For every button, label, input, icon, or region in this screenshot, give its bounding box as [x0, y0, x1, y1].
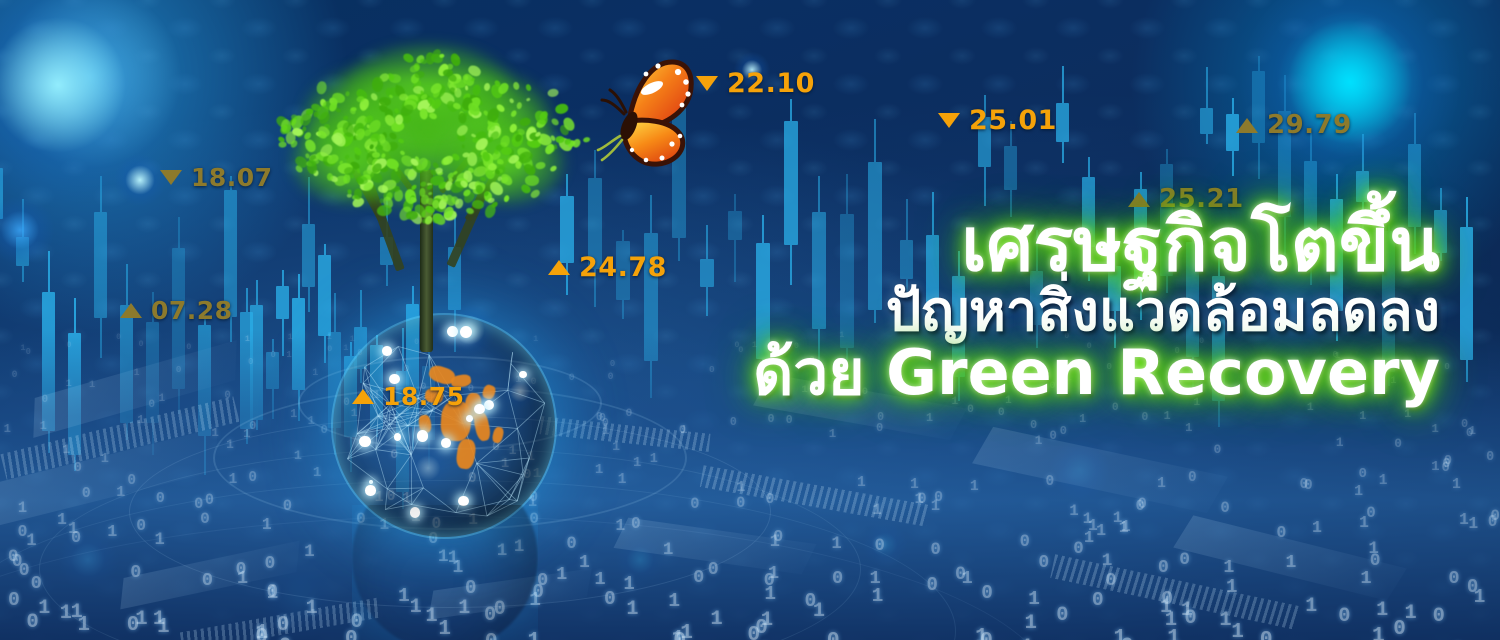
leaf-cluster [426, 184, 433, 191]
leaf-cluster [447, 72, 463, 85]
leaf-cluster [431, 199, 439, 209]
binary-digit: 0 [127, 614, 140, 637]
leaf-cluster [410, 183, 417, 190]
leaf-cluster [315, 151, 329, 163]
leaf-cluster [466, 64, 483, 79]
binary-digit: 1 [579, 553, 590, 573]
binary-digit: 0 [404, 363, 410, 374]
leaf-cluster [394, 109, 400, 115]
leaf-cluster [377, 144, 384, 149]
binary-digit: 0 [468, 471, 477, 487]
binary-digit: 0 [26, 347, 31, 357]
binary-digit: 1 [89, 379, 95, 391]
leaf-cluster [280, 125, 288, 134]
candlestick [16, 199, 29, 281]
binary-digit: 0 [1461, 417, 1468, 431]
triangle-down-icon [696, 76, 718, 91]
leaf-cluster [486, 121, 502, 136]
binary-digit: 0 [42, 394, 49, 406]
binary-digit: 0 [148, 399, 155, 411]
binary-digit: 0 [485, 630, 498, 640]
leaf-cluster [506, 153, 520, 166]
leaf-cluster [314, 103, 331, 121]
binary-digit: 1 [438, 618, 451, 640]
leaf-cluster [418, 92, 435, 110]
network-node [474, 404, 485, 415]
leaf-cluster [419, 108, 429, 120]
binary-digit: 1 [910, 477, 919, 493]
leaf-cluster [385, 87, 394, 97]
binary-digit: 0 [690, 495, 699, 513]
binary-digit: 1 [528, 493, 537, 511]
binary-digit: 0 [679, 423, 686, 437]
binary-digit: 1 [1113, 626, 1126, 640]
binary-digit: 1 [4, 422, 11, 436]
leaf-cluster [488, 197, 496, 204]
binary-digit: 1 [497, 541, 508, 561]
binary-digit: 0 [1038, 553, 1049, 573]
leaf-cluster [315, 131, 321, 136]
canopy-mass [290, 115, 410, 205]
butterfly-icon [596, 52, 716, 180]
binary-digit: 1 [267, 582, 279, 604]
leaf-cluster [370, 162, 382, 175]
leaf-cluster [372, 77, 383, 92]
binary-digit: 1 [1035, 433, 1043, 448]
leaf-cluster [416, 92, 427, 105]
leaf-cluster [384, 156, 400, 171]
leaf-cluster [333, 175, 349, 188]
binary-digit: 0 [345, 627, 358, 640]
candlestick [94, 176, 107, 358]
leaf-cluster [449, 52, 462, 67]
leaf-cluster [493, 128, 501, 136]
leaf-cluster [524, 161, 538, 175]
green-tree [268, 30, 598, 350]
leaf-cluster [395, 115, 403, 126]
leaf-cluster [378, 101, 386, 109]
candle-wick [984, 95, 986, 206]
leaf-cluster [467, 108, 476, 117]
leaf-cluster [515, 146, 532, 161]
network-node [519, 371, 527, 379]
candlestick [616, 230, 630, 319]
leaf-cluster [461, 97, 473, 111]
candle-body [42, 292, 55, 430]
binary-digit: 0 [356, 510, 366, 528]
leaf-cluster [279, 123, 294, 137]
binary-digit: 0 [428, 530, 438, 549]
candle-wick [100, 176, 102, 358]
binary-digit: 0 [1138, 495, 1147, 513]
binary-digit: 1 [398, 585, 410, 607]
leaf-cluster [407, 193, 415, 200]
leaf-cluster [406, 168, 419, 183]
binary-digit: 1 [66, 379, 72, 390]
leaf-cluster [322, 100, 336, 112]
leaf-cluster [483, 110, 490, 117]
leaf-cluster [515, 161, 522, 170]
binary-digit: 0 [1030, 418, 1037, 432]
candlestick [318, 244, 331, 363]
tech-stripe [1050, 554, 1300, 629]
leaf-cluster [520, 153, 527, 162]
leaf-cluster [371, 157, 378, 164]
candlestick [672, 65, 686, 261]
leaf-cluster [513, 133, 522, 143]
leaf-cluster [393, 84, 407, 99]
binary-digit: 1 [458, 597, 470, 620]
tech-slab [120, 541, 299, 610]
leaf-cluster [352, 146, 362, 157]
candle-body [146, 322, 159, 423]
leaf-cluster [343, 154, 350, 161]
leaf-cluster [342, 174, 350, 184]
leaf-cluster [503, 135, 508, 139]
binary-digit: 1 [1157, 476, 1166, 492]
binary-digit: 0 [82, 485, 91, 502]
network-node [447, 326, 458, 337]
binary-digit: 1 [626, 598, 638, 621]
leaf-cluster [313, 170, 319, 177]
binary-digit: 1 [153, 608, 165, 631]
candle-body [422, 366, 435, 440]
leaf-cluster [495, 103, 506, 114]
continent-landmass [427, 363, 457, 386]
leaf-cluster [362, 115, 374, 126]
candle-wick [402, 328, 404, 509]
leaf-cluster [500, 175, 510, 184]
candle-wick [594, 150, 596, 307]
binary-digit: 0 [431, 514, 441, 533]
leaf-cluster [475, 184, 484, 194]
network-node [458, 496, 468, 506]
leaf-cluster [471, 84, 481, 96]
binary-digit: 0 [569, 372, 575, 383]
triangle-up-icon [352, 389, 374, 404]
binary-digit: 0 [494, 598, 506, 621]
binary-digit: 0 [1188, 470, 1197, 486]
binary-digit: 1 [970, 479, 979, 495]
binary-digit: 0 [981, 582, 993, 604]
leaf-cluster [525, 97, 530, 102]
leaf-cluster [444, 180, 454, 191]
light-orb [734, 52, 770, 88]
leaf-cluster [453, 78, 467, 89]
leaf-cluster [453, 170, 459, 175]
candlestick [406, 286, 419, 450]
binary-digit: 1 [137, 413, 144, 427]
ticker-value: 24.78 [579, 252, 667, 283]
binary-digit: 0 [875, 537, 885, 556]
candle-body [16, 237, 29, 266]
leaf-cluster [303, 138, 317, 154]
leaf-cluster [472, 199, 485, 209]
binary-digit: 1 [1088, 516, 1098, 535]
ticker-value: 22.10 [727, 68, 815, 99]
leaf-cluster [330, 130, 347, 148]
binary-digit: 0 [1338, 605, 1350, 628]
leaf-cluster [499, 172, 515, 188]
leaf-cluster [557, 136, 575, 154]
light-orb [58, 530, 118, 590]
binary-digit: 0 [66, 340, 71, 350]
candlestick [370, 335, 383, 437]
leaf-cluster [315, 80, 327, 95]
leaf-cluster [346, 91, 351, 97]
leaf-cluster [454, 177, 468, 188]
leaf-cluster [381, 185, 389, 194]
binary-digit: 1 [1431, 459, 1439, 475]
globe-network-mesh [333, 315, 555, 537]
leaf-cluster [465, 93, 480, 106]
binary-digit: 1 [602, 424, 609, 438]
leaf-cluster [316, 124, 331, 139]
binary-digit: 1 [1452, 477, 1461, 493]
leaf-cluster [355, 87, 369, 101]
binary-digit: 1 [594, 568, 605, 590]
leaf-cluster [334, 138, 339, 143]
binary-digit: 0 [608, 371, 614, 382]
candle-wick [622, 230, 624, 319]
leaf-cluster [383, 113, 397, 128]
leaf-cluster [356, 174, 369, 185]
leaf-cluster [438, 90, 456, 107]
leaf-cluster [442, 206, 455, 220]
binary-digit: 1 [107, 523, 117, 542]
leaf-cluster [405, 98, 419, 109]
binary-digit: 0 [484, 604, 496, 627]
leaf-cluster [494, 169, 500, 176]
leaf-cluster [549, 164, 558, 172]
leaf-cluster [429, 173, 445, 186]
binary-digit: 1 [448, 548, 459, 568]
candle-wick [350, 342, 352, 472]
leaf-cluster [547, 88, 559, 97]
leaf-cluster [351, 107, 357, 111]
binary-digit: 1 [1468, 514, 1478, 533]
binary-digit: 0 [610, 358, 616, 369]
binary-digit: 0 [31, 572, 42, 594]
leaf-cluster [351, 128, 359, 137]
ticker-18-07: 18.07 [160, 163, 273, 192]
leaf-cluster [491, 200, 500, 209]
binary-digit: 1 [650, 452, 658, 467]
binary-digit: 1 [155, 531, 165, 550]
leaf-cluster [471, 137, 480, 145]
binary-digit: 1 [672, 627, 685, 640]
leaf-cluster [427, 191, 432, 195]
leaf-cluster [497, 161, 501, 165]
binary-digit: 0 [156, 489, 165, 507]
leaf-cluster [378, 103, 389, 113]
binary-digit: 1 [1312, 518, 1322, 537]
leaf-cluster [432, 162, 441, 171]
leaf-cluster [351, 196, 366, 210]
leaf-cluster [319, 99, 327, 108]
leaf-cluster [323, 155, 333, 167]
light-orb [1240, 0, 1460, 192]
binary-digit: 1 [438, 547, 449, 567]
leaf-cluster [455, 123, 470, 138]
leaf-cluster [425, 205, 432, 211]
binary-digit: 1 [1226, 576, 1237, 598]
binary-digit: 1 [1185, 421, 1192, 435]
binary-digit: 1 [159, 393, 166, 405]
leaf-cluster [355, 96, 365, 104]
leaf-cluster [510, 131, 525, 148]
binary-digit: 0 [1276, 524, 1286, 543]
candlestick [292, 274, 305, 421]
leaf-cluster [387, 72, 396, 82]
leaf-cluster [464, 85, 468, 90]
candle-body [396, 371, 409, 492]
canopy-mass [343, 43, 513, 133]
binary-digit: 1 [40, 419, 47, 433]
binary-digit: 0 [1105, 569, 1116, 591]
platform-ring [213, 386, 687, 530]
binary-digit: 0 [631, 514, 641, 533]
leaf-cluster [521, 162, 537, 178]
leaf-cluster [293, 154, 309, 169]
binary-digit: 1 [116, 485, 125, 501]
binary-digit: 1 [633, 456, 641, 471]
light-orb [406, 446, 450, 490]
binary-digit: 1 [62, 442, 70, 457]
leaf-cluster [462, 190, 477, 205]
leaf-cluster [354, 128, 367, 142]
leaf-cluster [412, 202, 428, 219]
candle-body [406, 304, 419, 427]
canopy-mass [405, 68, 555, 176]
candle-body [616, 241, 630, 299]
binary-digit: 0 [26, 611, 38, 634]
leaf-cluster [354, 114, 370, 130]
leaf-cluster [519, 116, 531, 126]
leaf-cluster [454, 198, 464, 210]
leaf-cluster [395, 124, 401, 130]
binary-digit: 1 [1376, 599, 1388, 622]
binary-digit: 0 [136, 516, 146, 535]
leaf-cluster [349, 108, 356, 116]
leaf-cluster [446, 171, 455, 180]
leaf-cluster [491, 114, 499, 123]
leaf-cluster [425, 205, 437, 215]
candle-body [1056, 103, 1069, 142]
candlestick [172, 217, 185, 414]
leaf-cluster [463, 169, 474, 182]
leaf-cluster [377, 133, 386, 144]
binary-digit: 1 [1231, 620, 1244, 640]
binary-digit: 1 [831, 535, 841, 554]
binary-digit: 1 [304, 542, 315, 562]
leaf-cluster [516, 150, 534, 166]
leaf-cluster [475, 181, 482, 189]
leaf-cluster [478, 99, 484, 106]
binary-digit: 1 [452, 558, 463, 578]
platform-ring [129, 416, 771, 608]
binary-digit: 0 [351, 611, 363, 634]
binary-digit: 1 [515, 374, 521, 385]
binary-digit: 1 [1359, 410, 1366, 423]
binary-digit: 0 [773, 528, 783, 547]
canopy-mass [301, 65, 451, 175]
network-node [410, 507, 421, 518]
leaf-cluster [553, 144, 558, 149]
leaf-cluster [357, 127, 365, 138]
leaf-cluster [470, 105, 476, 111]
leaf-cluster [451, 152, 460, 161]
leaf-cluster [381, 187, 396, 203]
leaf-cluster [483, 83, 490, 92]
binary-digit: 1 [379, 515, 389, 534]
network-node [369, 480, 373, 484]
binary-digit: 0 [248, 356, 254, 367]
candlestick [1200, 67, 1213, 145]
binary-digit: 1 [1360, 567, 1371, 589]
leaf-cluster [484, 153, 492, 163]
binary-digit: 1 [286, 350, 291, 360]
leaf-cluster [384, 108, 394, 120]
candle-body [448, 247, 461, 310]
headline-block: เศรษฐกิจโตขึ้น ปัญหาสิ่งแวดล้อมลดลง ด้วย… [753, 208, 1440, 404]
leaf-cluster [416, 98, 433, 114]
leaf-cluster [397, 138, 404, 144]
binary-digit: 1 [1165, 609, 1177, 632]
leaf-cluster [404, 94, 419, 107]
tech-slab [428, 568, 592, 619]
binary-digit: 0 [279, 634, 292, 640]
candlestick [1460, 197, 1473, 382]
ticker-07-28: 07.28 [120, 296, 233, 325]
binary-digit: 0 [420, 381, 426, 393]
light-orb [0, 0, 178, 205]
leaf-cluster [431, 212, 443, 224]
binary-digit: 0 [1046, 474, 1055, 490]
leaf-cluster [547, 144, 555, 153]
binary-digit: 0 [1442, 457, 1450, 472]
binary-digit: 0 [327, 344, 332, 354]
triangle-up-icon [548, 260, 570, 275]
network-node [417, 430, 428, 441]
binary-digit: 1 [737, 480, 746, 496]
leaf-cluster [487, 179, 505, 198]
leaf-cluster [421, 216, 429, 224]
leaf-cluster [524, 126, 537, 142]
binary-digit: 1 [663, 540, 673, 560]
leaf-cluster [396, 114, 401, 118]
binary-digit: 1 [1028, 588, 1040, 610]
leaf-cluster [427, 183, 432, 187]
binary-digit: 1 [710, 608, 722, 631]
binary-digit: 0 [736, 494, 745, 512]
leaf-cluster [460, 102, 469, 111]
leaf-cluster [437, 180, 448, 191]
leaf-cluster [430, 198, 446, 214]
binary-digit: 1 [313, 465, 321, 481]
leaf-cluster [480, 150, 491, 162]
binary-digit: 1 [1160, 595, 1172, 618]
leaf-cluster [431, 48, 442, 59]
continent-landmass [464, 392, 483, 420]
binary-digit: 1 [527, 450, 535, 465]
leaf-cluster [361, 104, 366, 111]
leaf-cluster [484, 161, 496, 176]
leaf-cluster [563, 137, 572, 146]
binary-digit: 0 [693, 566, 704, 588]
leaf-cluster [364, 147, 370, 152]
binary-digit: 1 [1379, 473, 1388, 489]
